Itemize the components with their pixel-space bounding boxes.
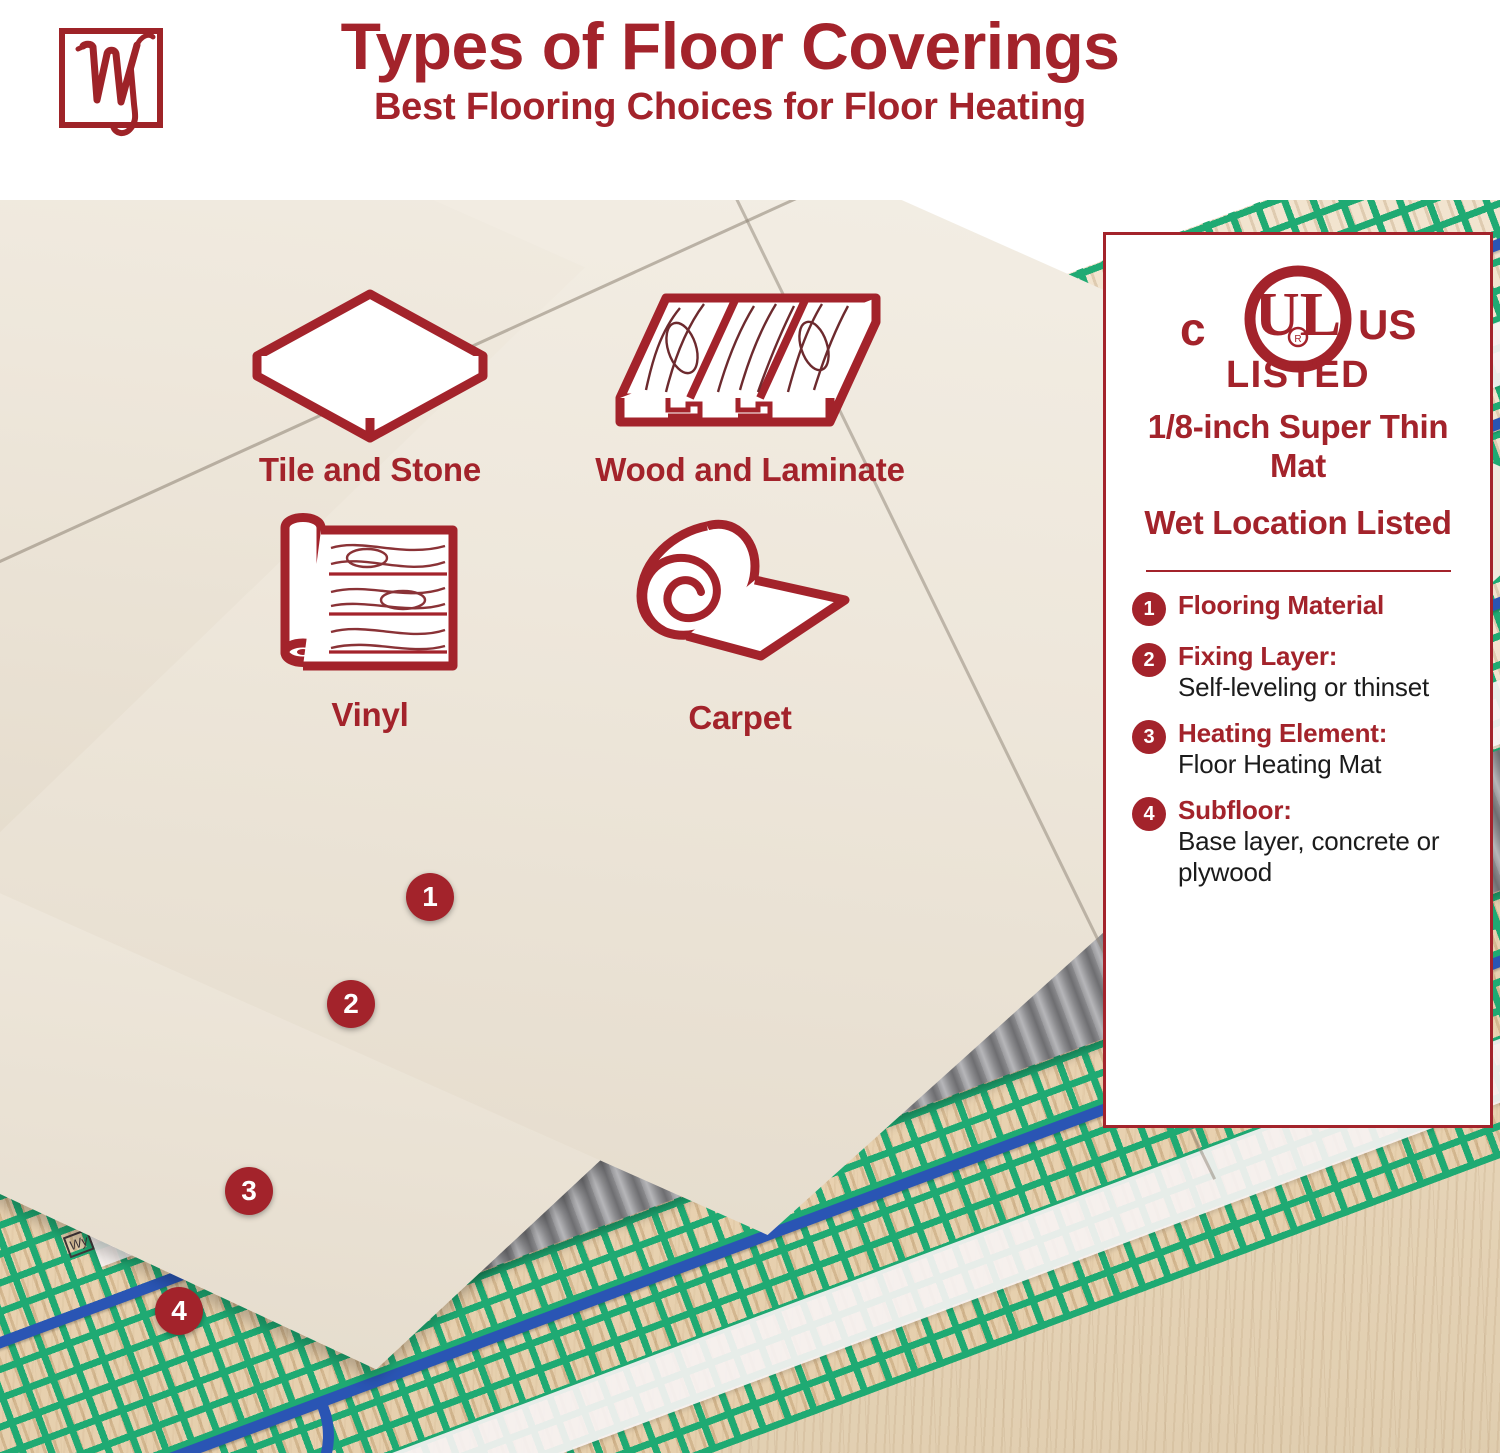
legend-description: Self-leveling or thinset xyxy=(1178,672,1464,703)
photo-callout-1: 1 xyxy=(406,873,454,921)
floor-type-tile-and-stone: Tile and Stone xyxy=(220,280,520,489)
legend-title: Subfloor: xyxy=(1178,795,1464,826)
product-info-panel: c UL R US LISTED 1/8-inch Super Thin Mat… xyxy=(1103,232,1493,1128)
infographic-canvas: Wy WarmlyYours Wy WarmlyYours Wy WarmlyY… xyxy=(0,0,1500,1453)
panel-divider xyxy=(1146,570,1451,572)
legend-number-badge: 4 xyxy=(1132,797,1166,831)
legend-description: Base layer, concrete or plywood xyxy=(1178,826,1464,888)
photo-callout-4: 4 xyxy=(155,1287,203,1335)
floor-type-carpet: Carpet xyxy=(600,508,880,737)
floor-type-label: Wood and Laminate xyxy=(560,451,940,489)
warmlyyours-logo xyxy=(45,18,175,140)
floor-type-label: Tile and Stone xyxy=(220,451,520,489)
floor-type-vinyl: Vinyl xyxy=(250,500,490,734)
legend-title: Heating Element: xyxy=(1178,718,1464,749)
legend-item-2: 2 Fixing Layer: Self-leveling or thinset xyxy=(1132,641,1464,703)
legend-text-block: Subfloor: Base layer, concrete or plywoo… xyxy=(1178,795,1464,888)
page-subtitle: Best Flooring Choices for Floor Heating xyxy=(190,84,1270,130)
floor-type-label: Vinyl xyxy=(250,696,490,734)
legend-number-badge: 1 xyxy=(1132,592,1166,626)
panel-heading-wet-location: Wet Location Listed xyxy=(1132,503,1464,542)
ul-mark-us-letters: US xyxy=(1358,301,1416,348)
floor-types-group: Tile and Stone xyxy=(0,250,1090,770)
legend-item-1: 1 Flooring Material xyxy=(1132,590,1464,626)
page-header: Types of Floor Coverings Best Flooring C… xyxy=(0,0,1500,200)
logo-wy-monogram-icon xyxy=(45,18,175,140)
legend-text-block: Flooring Material xyxy=(1178,590,1464,621)
panel-heading-thin-mat: 1/8-inch Super Thin Mat xyxy=(1132,407,1464,485)
legend-text-block: Fixing Layer: Self-leveling or thinset xyxy=(1178,641,1464,703)
vinyl-roll-icon xyxy=(263,500,478,690)
legend-title: Fixing Layer: xyxy=(1178,641,1464,672)
svg-text:R: R xyxy=(1294,334,1301,345)
carpet-roll-icon xyxy=(615,508,865,693)
ul-listed-mark-icon: c UL R US LISTED xyxy=(1148,265,1448,393)
photo-callout-3: 3 xyxy=(225,1167,273,1215)
legend-description: Floor Heating Mat xyxy=(1178,749,1464,780)
title-block: Types of Floor Coverings Best Flooring C… xyxy=(190,8,1270,130)
legend-text-block: Heating Element: Floor Heating Mat xyxy=(1178,718,1464,780)
legend-number-badge: 3 xyxy=(1132,720,1166,754)
legend-item-4: 4 Subfloor: Base layer, concrete or plyw… xyxy=(1132,795,1464,888)
photo-callout-2: 2 xyxy=(327,980,375,1028)
legend-number-badge: 2 xyxy=(1132,643,1166,677)
page-title: Types of Floor Coverings xyxy=(190,8,1270,84)
floor-type-wood-and-laminate: Wood and Laminate xyxy=(560,280,940,489)
ul-mark-c-letter: c xyxy=(1180,303,1206,355)
floor-type-label: Carpet xyxy=(600,699,880,737)
legend-title: Flooring Material xyxy=(1178,590,1464,621)
tile-slab-icon xyxy=(245,280,495,445)
legend-item-3: 3 Heating Element: Floor Heating Mat xyxy=(1132,718,1464,780)
ul-mark-listed-text: LISTED xyxy=(1226,354,1370,393)
wood-planks-icon xyxy=(608,280,893,445)
